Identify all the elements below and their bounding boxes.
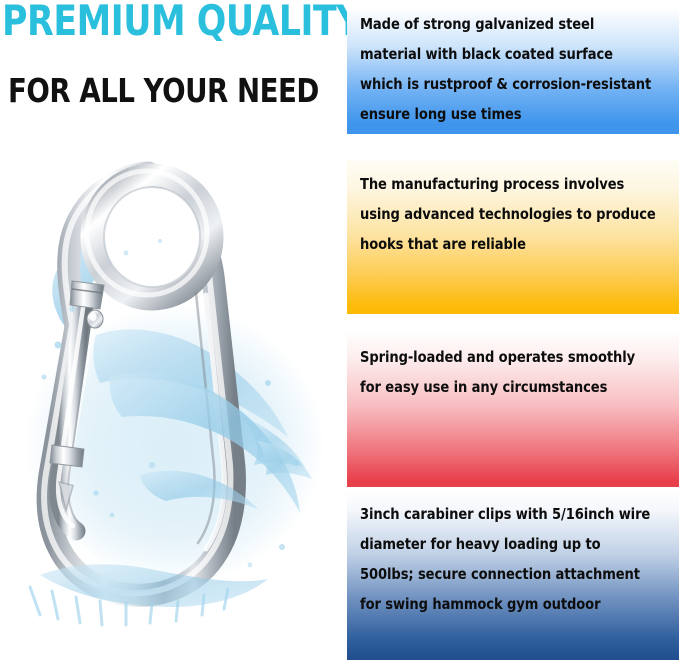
feature-text-material: Made of strong galvanized steel material… bbox=[360, 9, 656, 129]
left-column: PREMIUM QUALITY FOR ALL YOUR NEED bbox=[0, 0, 345, 660]
headline-primary: PREMIUM QUALITY bbox=[2, 0, 361, 44]
feature-panel-spring: Spring-loaded and operates smoothly for … bbox=[347, 333, 679, 487]
product-infographic: PREMIUM QUALITY FOR ALL YOUR NEED bbox=[0, 0, 679, 660]
product-image-carabiner bbox=[0, 145, 345, 645]
feature-panels-column: Made of strong galvanized steel material… bbox=[347, 0, 679, 660]
headline-block: PREMIUM QUALITY FOR ALL YOUR NEED bbox=[0, 0, 345, 132]
feature-text-spring: Spring-loaded and operates smoothly for … bbox=[360, 342, 656, 402]
feature-panel-manufacturing: The manufacturing process involves using… bbox=[347, 160, 679, 314]
headline-secondary: FOR ALL YOUR NEED bbox=[8, 72, 319, 110]
feature-panel-material: Made of strong galvanized steel material… bbox=[347, 0, 679, 134]
feature-text-specs: 3inch carabiner clips with 5/16inch wire… bbox=[360, 499, 656, 619]
feature-text-manufacturing: The manufacturing process involves using… bbox=[360, 169, 656, 259]
feature-panel-specs: 3inch carabiner clips with 5/16inch wire… bbox=[347, 490, 679, 660]
